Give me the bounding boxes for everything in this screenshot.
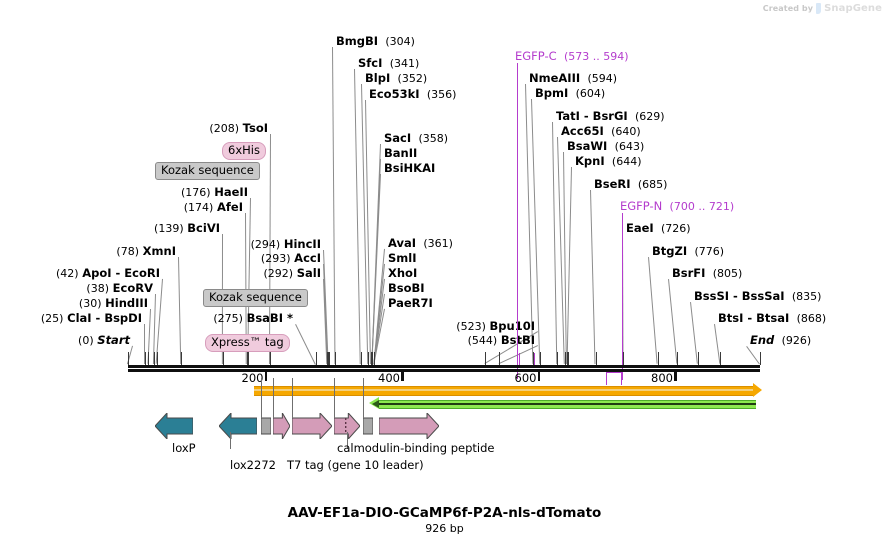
enzyme-name: Acc65I — [561, 124, 604, 138]
enzyme-position: (835) — [792, 290, 822, 303]
restriction-site-tick — [157, 352, 158, 365]
enzyme-label[interactable]: (208) TsoI — [209, 122, 268, 135]
enzyme-position: (139) — [154, 222, 184, 235]
feature-position-line — [292, 378, 293, 418]
enzyme-name: BpmI — [535, 86, 568, 100]
enzyme-position: (275) — [213, 312, 243, 325]
enzyme-label[interactable]: BlpI (352) — [365, 72, 427, 85]
page-subtitle: 926 bp — [0, 522, 889, 535]
enzyme-name: BmgBI — [336, 34, 378, 48]
restriction-site-tick — [223, 352, 224, 365]
enzyme-position: (805) — [713, 267, 743, 280]
enzyme-label[interactable]: BpmI (604) — [535, 87, 605, 100]
region-name: EGFP-C — [515, 49, 557, 63]
enzyme-label[interactable]: XhoI — [388, 267, 417, 279]
enzyme-name: Eco53kI — [369, 87, 420, 101]
restriction-site-tick — [623, 352, 624, 365]
enzyme-position: (294) — [251, 238, 281, 251]
feature-arrow-icon — [292, 413, 332, 439]
feature-arrow-icon — [219, 413, 257, 439]
restriction-site-tick — [372, 352, 373, 365]
orf-arrowhead-icon — [753, 383, 762, 397]
enzyme-label[interactable]: BsoBI — [388, 282, 425, 294]
watermark-prefix: Created by — [763, 4, 813, 13]
restriction-site-tick — [181, 352, 182, 365]
region-name: EGFP-N — [620, 199, 662, 213]
feature-name-label: calmodulin-binding peptide — [337, 441, 495, 455]
feature-arrow[interactable] — [155, 413, 193, 439]
enzyme-label[interactable]: (176) HaeII — [181, 186, 248, 199]
feature-arrow-icon — [379, 413, 439, 439]
leader-line — [668, 279, 677, 364]
leader-line — [332, 47, 335, 364]
feature-tag[interactable]: Xpress™ tag — [205, 334, 290, 352]
enzyme-label[interactable]: (275) BsaBI * — [213, 312, 293, 325]
enzyme-label[interactable]: SacI (358) — [384, 132, 448, 145]
feature-position-line — [273, 378, 274, 418]
enzyme-position: (78) — [116, 245, 139, 258]
feature-position-line — [334, 378, 335, 418]
feature-tag[interactable]: 6xHis — [222, 142, 266, 160]
ruler-tick — [265, 372, 268, 381]
enzyme-label[interactable]: BsiHKAI — [384, 162, 435, 174]
leader-line — [295, 324, 316, 364]
enzyme-name: HaeII — [214, 185, 248, 199]
restriction-site-tick — [557, 352, 558, 365]
enzyme-position: (868) — [797, 312, 827, 325]
enzyme-name: BsaWI — [567, 139, 607, 153]
ruler-tick-label: 800 — [651, 371, 674, 385]
enzyme-name: SalI — [297, 266, 321, 280]
enzyme-name: TsoI — [243, 121, 268, 135]
enzyme-name: BsiHKAI — [384, 161, 435, 175]
enzyme-label[interactable]: PaeR7I — [388, 297, 433, 309]
feature-name-label: loxP — [172, 441, 196, 455]
enzyme-name: KpnI — [575, 154, 605, 168]
enzyme-position: (544) — [468, 334, 498, 347]
restriction-site-tick — [485, 352, 486, 365]
region-bracket — [606, 372, 622, 385]
enzyme-name: HindIII — [105, 296, 148, 310]
restriction-site-tick — [760, 352, 761, 365]
enzyme-name: BsaBI * — [247, 311, 293, 325]
enzyme-name: BtgZI — [652, 244, 687, 258]
leader-line — [178, 257, 181, 364]
enzyme-name: End — [750, 333, 774, 347]
enzyme-label[interactable]: BtsI - BtsaI (868) — [718, 312, 826, 325]
enzyme-name: ApoI - EcoRI — [82, 266, 160, 280]
feature-position-line — [363, 378, 364, 418]
enzyme-name: XhoI — [388, 266, 417, 280]
page-title: AAV-EF1a-DIO-GCaMP6f-P2A-nls-dTomato — [0, 505, 889, 521]
enzyme-label[interactable]: (523) Bpu10I — [456, 320, 535, 333]
enzyme-label[interactable]: SfcI (341) — [358, 57, 419, 70]
feature-arrow[interactable] — [379, 413, 439, 439]
enzyme-label[interactable]: (42) ApoI - EcoRI — [56, 267, 160, 280]
enzyme-label[interactable]: TatI - BsrGI (629) — [556, 110, 665, 123]
enzyme-name: BciVI — [187, 221, 220, 235]
feature-tag[interactable]: Kozak sequence — [155, 162, 260, 180]
enzyme-name: Start — [97, 333, 130, 347]
leader-line — [746, 346, 760, 365]
restriction-site-tick — [540, 352, 541, 365]
enzyme-name: BseRI — [594, 177, 631, 191]
enzyme-name: HincII — [284, 237, 321, 251]
restriction-site-tick — [568, 352, 569, 365]
enzyme-label[interactable]: BssSI - BssSaI (835) — [694, 290, 821, 303]
ruler-bar-top — [128, 365, 760, 368]
region-range: (573 .. 594) — [564, 50, 629, 63]
enzyme-label[interactable]: NmeAIII (594) — [529, 72, 617, 85]
enzyme-name: PaeR7I — [388, 296, 433, 310]
enzyme-position: (358) — [418, 132, 448, 145]
enzyme-label[interactable]: (174) AfeI — [184, 201, 243, 214]
restriction-site-tick — [596, 352, 597, 365]
enzyme-label[interactable]: End (926) — [750, 334, 811, 347]
green-feature-bar — [379, 400, 756, 409]
enzyme-position: (352) — [398, 72, 428, 85]
enzyme-name: AccI — [294, 251, 321, 265]
enzyme-label[interactable]: KpnI (644) — [575, 155, 642, 168]
enzyme-name: BtsI - BtsaI — [718, 311, 789, 325]
restriction-site-tick — [361, 352, 362, 365]
leader-line — [690, 302, 698, 364]
feature-name-label: T7 tag (gene 10 leader) — [287, 458, 424, 472]
restriction-site-tick — [677, 352, 678, 365]
enzyme-position: (726) — [661, 222, 691, 235]
enzyme-position: (341) — [390, 57, 420, 70]
restriction-site-tick — [154, 352, 155, 365]
restriction-site-tick — [565, 352, 566, 365]
enzyme-name: ClaI - BspDI — [67, 311, 142, 325]
restriction-site-tick — [270, 352, 271, 365]
enzyme-position: (174) — [184, 201, 214, 214]
enzyme-position: (640) — [611, 125, 641, 138]
enzyme-position: (293) — [261, 252, 291, 265]
enzyme-position: (629) — [635, 110, 665, 123]
feature-tag[interactable]: Kozak sequence — [203, 289, 308, 307]
restriction-site-tick — [248, 352, 249, 365]
enzyme-label[interactable]: EaeI (726) — [626, 222, 691, 235]
enzyme-label[interactable]: AvaI (361) — [388, 237, 453, 250]
leader-line — [648, 257, 658, 364]
feature-arrow-icon — [363, 413, 373, 439]
enzyme-label[interactable]: (0) Start — [78, 334, 130, 347]
enzyme-label[interactable]: SmlI — [388, 252, 417, 264]
leader-line — [354, 69, 361, 364]
feature-arrow[interactable] — [292, 413, 332, 439]
enzyme-name: XmnI — [143, 244, 176, 258]
enzyme-position: (604) — [576, 87, 606, 100]
enzyme-position: (523) — [456, 320, 486, 333]
enzyme-position: (356) — [427, 88, 457, 101]
enzyme-label[interactable]: BseRI (685) — [594, 178, 667, 191]
restriction-site-tick — [698, 352, 699, 365]
enzyme-label[interactable]: (544) BstBI — [468, 334, 535, 347]
ruler-tick — [538, 372, 541, 381]
restriction-site-tick — [533, 352, 534, 365]
enzyme-name: BlpI — [365, 71, 390, 85]
feature-arrow[interactable] — [261, 413, 271, 439]
restriction-site-tick — [316, 352, 317, 365]
restriction-site-tick — [499, 352, 500, 365]
enzyme-name: BanII — [384, 146, 417, 160]
restriction-site-tick — [335, 352, 336, 365]
feature-arrow-icon — [273, 413, 290, 439]
enzyme-position: (926) — [782, 334, 812, 347]
enzyme-position: (30) — [79, 297, 102, 310]
enzyme-label[interactable]: (78) XmnI — [116, 245, 176, 258]
enzyme-label[interactable]: BanII — [384, 147, 417, 159]
region-label[interactable]: EGFP-N (700 .. 721) — [620, 200, 734, 213]
enzyme-position: (644) — [612, 155, 642, 168]
enzyme-name: EaeI — [626, 221, 654, 235]
enzyme-label[interactable]: (294) HincII — [251, 238, 321, 251]
enzyme-label[interactable]: BsaWI (643) — [567, 140, 644, 153]
green-bar-core — [379, 403, 756, 405]
leader-line — [567, 167, 572, 364]
restriction-site-tick — [329, 352, 330, 365]
enzyme-label[interactable]: BtgZI (776) — [652, 245, 724, 258]
enzyme-name: SacI — [384, 131, 411, 145]
enzyme-name: BsoBI — [388, 281, 425, 295]
enzyme-position: (643) — [615, 140, 645, 153]
enzyme-name: AvaI — [388, 236, 416, 250]
feature-name-connector — [230, 432, 231, 449]
orf-bar — [254, 386, 753, 396]
plasmid-map: Created by SnapGene (0) Start(25) ClaI -… — [0, 0, 889, 545]
enzyme-name: TatI - BsrGI — [556, 109, 628, 123]
enzyme-position: (176) — [181, 186, 211, 199]
region-label[interactable]: EGFP-C (573 .. 594) — [515, 50, 629, 63]
feature-arrow[interactable] — [363, 413, 373, 439]
enzyme-label[interactable]: BmgBI (304) — [336, 35, 415, 48]
enzyme-name: EcoRV — [113, 281, 153, 295]
enzyme-label[interactable]: (25) ClaI - BspDI — [41, 312, 142, 325]
enzyme-label[interactable]: (139) BciVI — [154, 222, 220, 235]
enzyme-position: (208) — [209, 122, 239, 135]
ruler-tick-label: 400 — [378, 371, 401, 385]
enzyme-label[interactable]: (292) SalI — [263, 267, 321, 280]
enzyme-position: (594) — [587, 72, 617, 85]
enzyme-name: Bpu10I — [490, 319, 535, 333]
ruler-tick-label: 600 — [515, 371, 538, 385]
watermark-brand: SnapGene — [824, 3, 882, 14]
enzyme-name: SmlI — [388, 251, 417, 265]
feature-arrow[interactable] — [273, 413, 290, 439]
enzyme-position: (25) — [41, 312, 64, 325]
restriction-site-tick — [374, 352, 375, 365]
feature-arrow[interactable] — [219, 413, 257, 439]
enzyme-name: BsrFI — [672, 266, 705, 280]
leader-line — [590, 190, 596, 364]
enzyme-name: BssSI - BssSaI — [694, 289, 785, 303]
enzyme-label[interactable]: Eco53kI (356) — [369, 88, 456, 101]
restriction-site-tick — [148, 352, 149, 365]
enzyme-position: (304) — [385, 35, 415, 48]
ruler-tick — [674, 372, 677, 381]
feature-name-label: lox2272 — [230, 458, 276, 472]
feature-arrow-icon — [261, 413, 271, 439]
ruler-tick — [401, 372, 404, 381]
enzyme-name: SfcI — [358, 56, 382, 70]
restriction-site-tick — [128, 352, 129, 365]
enzyme-position: (292) — [263, 267, 293, 280]
restriction-site-tick — [658, 352, 659, 365]
restriction-site-tick — [368, 352, 369, 365]
feature-arrow-icon — [155, 413, 193, 439]
enzyme-position: (361) — [423, 237, 453, 250]
orf-bar-highlight — [254, 389, 753, 391]
feature-position-line — [261, 378, 262, 418]
enzyme-name: AfeI — [217, 200, 243, 214]
enzyme-position: (38) — [86, 282, 109, 295]
green-arrowhead-core-icon — [372, 400, 379, 408]
enzyme-label[interactable]: Acc65I (640) — [561, 125, 641, 138]
enzyme-label[interactable]: (293) AccI — [261, 252, 321, 265]
region-range: (700 .. 721) — [670, 200, 735, 213]
snapgene-watermark: Created by SnapGene — [763, 3, 882, 14]
restriction-site-tick — [720, 352, 721, 365]
restriction-site-tick — [145, 352, 146, 365]
enzyme-position: (0) — [78, 334, 94, 347]
enzyme-label[interactable]: (30) HindIII — [79, 297, 148, 310]
enzyme-position: (42) — [56, 267, 79, 280]
enzyme-position: (685) — [638, 178, 668, 191]
snapgene-flag-icon — [816, 3, 821, 14]
enzyme-position: (776) — [694, 245, 724, 258]
enzyme-label[interactable]: (38) EcoRV — [86, 282, 153, 295]
leader-line — [552, 122, 557, 364]
region-connector — [517, 63, 518, 379]
enzyme-label[interactable]: BsrFI (805) — [672, 267, 742, 280]
enzyme-name: NmeAIII — [529, 71, 580, 85]
